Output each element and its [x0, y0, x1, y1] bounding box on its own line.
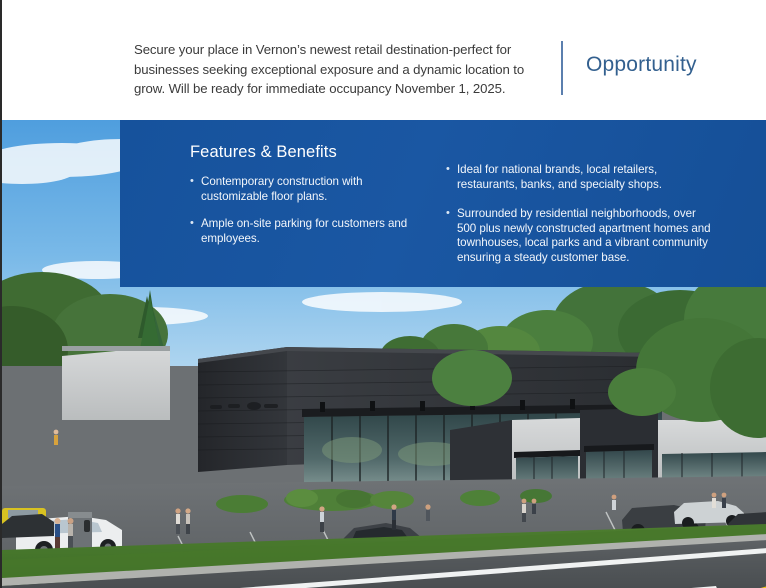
slide-root: Secure your place in Vernon’s newest ret… [0, 0, 766, 588]
left-bullet-list: Contemporary construction with customiza… [190, 175, 428, 246]
header-content: Secure your place in Vernon’s newest ret… [134, 40, 734, 99]
header-band: Secure your place in Vernon’s newest ret… [2, 0, 766, 120]
panel-column-left: Features & Benefits Contemporary constru… [190, 142, 428, 281]
header-divider-wrap [544, 40, 580, 95]
panel-column-right: Ideal for national brands, local retaile… [446, 142, 714, 281]
panel-title: Features & Benefits [190, 142, 428, 162]
intro-paragraph: Secure your place in Vernon’s newest ret… [134, 40, 544, 99]
vertical-divider [561, 41, 563, 95]
section-title: Opportunity [586, 52, 697, 78]
building-left-wing [62, 346, 170, 420]
list-item: Contemporary construction with customiza… [190, 175, 428, 204]
panel-columns: Features & Benefits Contemporary constru… [190, 142, 766, 281]
right-bullet-list: Ideal for national brands, local retaile… [446, 163, 714, 266]
features-benefits-panel: Features & Benefits Contemporary constru… [120, 120, 766, 287]
list-item: Surrounded by residential neighborhoods,… [446, 207, 714, 265]
list-item: Ideal for national brands, local retaile… [446, 163, 714, 192]
list-item: Ample on-site parking for customers and … [190, 217, 428, 246]
